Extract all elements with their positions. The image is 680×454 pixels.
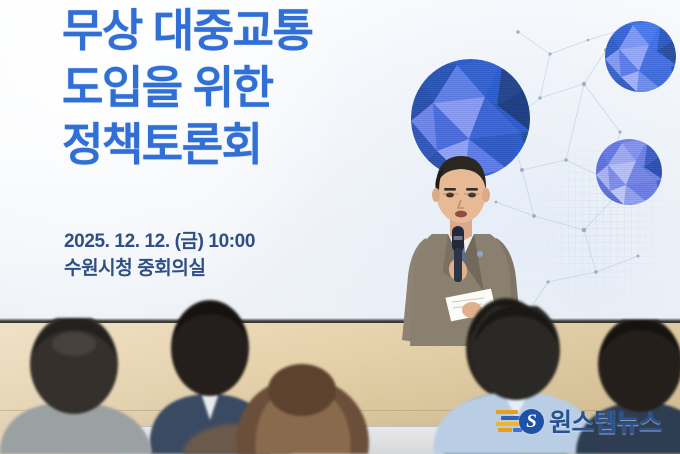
decor-circle-top-right <box>605 21 676 92</box>
banner-title-line-3: 정책토론회 <box>62 116 412 173</box>
banner-title-line-2: 도입을 위한 <box>62 59 412 116</box>
banner-title: 무상 대중교통 도입을 위한 정책토론회 <box>62 2 412 173</box>
watermark-brand-text: 원스텝뉴스 <box>549 403 662 439</box>
decor-circle-bottom-right <box>596 139 662 205</box>
circle-scanline-texture <box>605 21 676 92</box>
circle-scanline-texture <box>596 139 662 205</box>
watermark-logo: S 원스텝뉴스 <box>496 401 672 441</box>
banner-subtitle: 2025. 12. 12. (금) 10:00 수원시청 중회의실 <box>64 228 364 282</box>
watermark-s-badge-icon: S <box>519 409 544 434</box>
banner-date: 2025. 12. 12. (금) 10:00 <box>64 228 364 255</box>
watermark-badge-letter: S <box>526 412 537 431</box>
press-photo: 무상 대중교통 도입을 위한 정책토론회 2025. 12. 12. (금) 1… <box>0 0 680 454</box>
audience-member-long-hair <box>222 356 382 454</box>
banner-title-line-1: 무상 대중교통 <box>62 2 412 59</box>
banner-venue: 수원시청 중회의실 <box>64 255 364 282</box>
audience-member-1 <box>0 318 160 454</box>
